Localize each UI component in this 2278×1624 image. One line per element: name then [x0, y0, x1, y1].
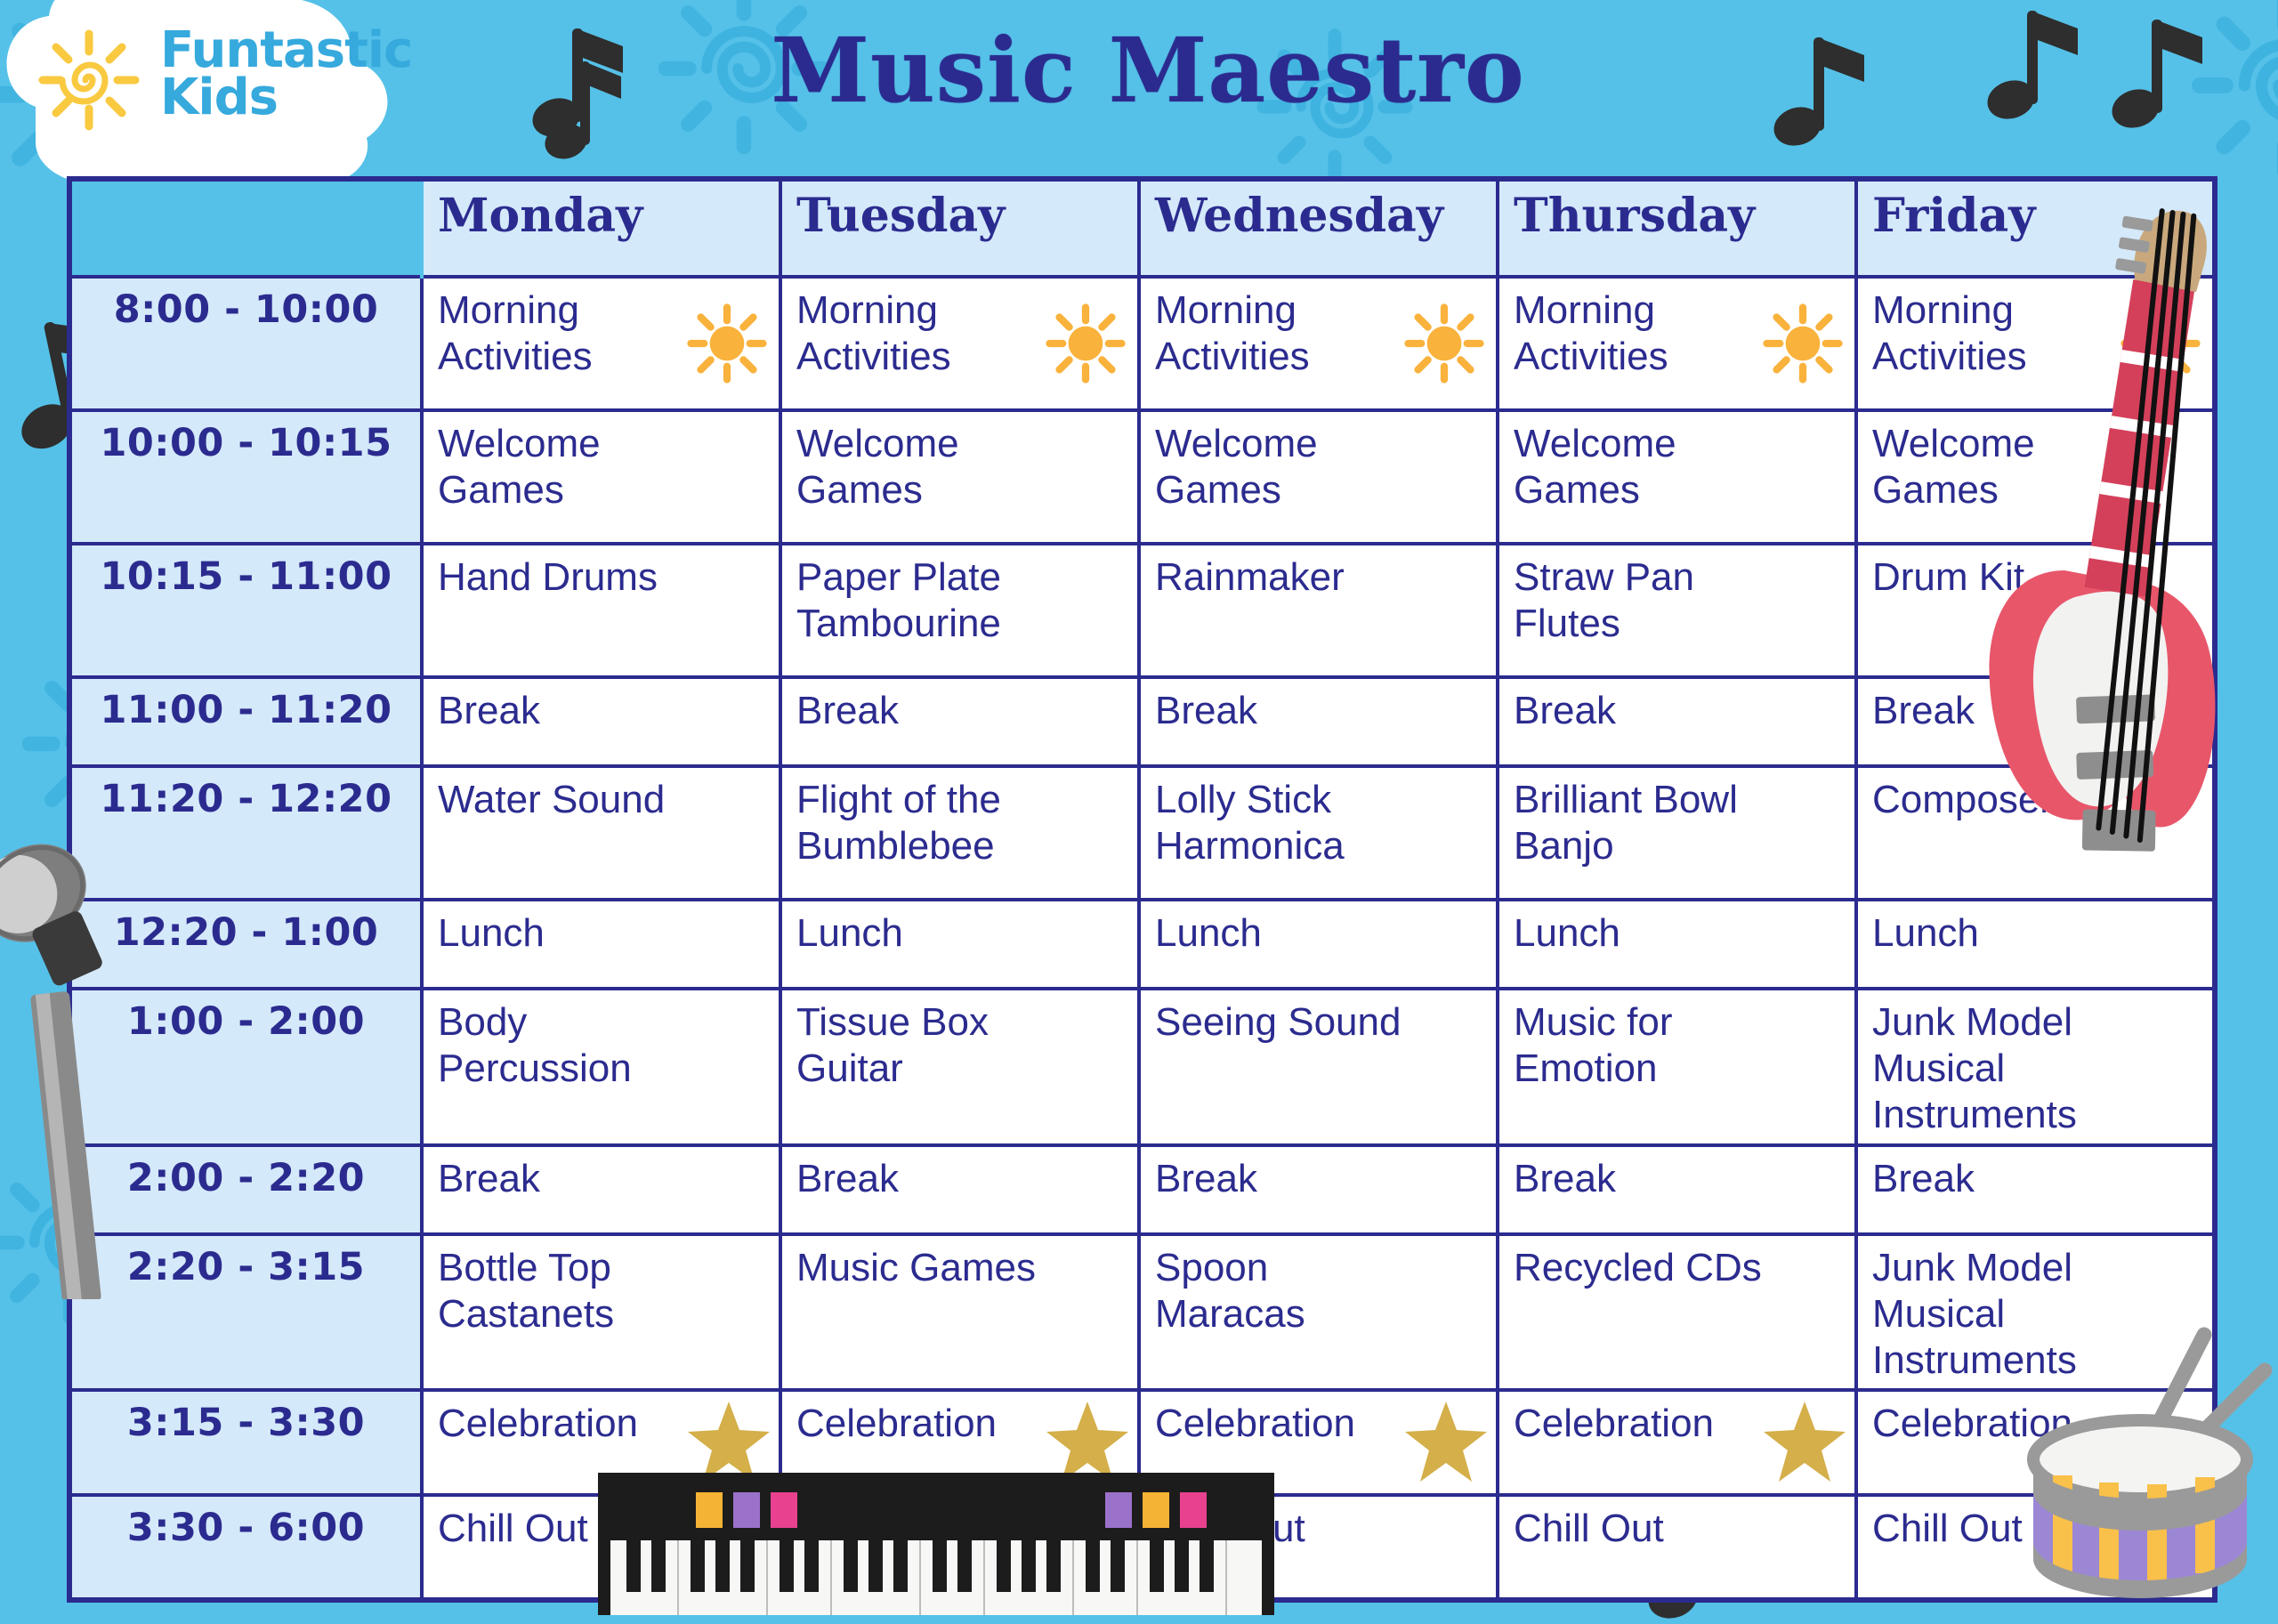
activity-cell: Body Percussion [422, 989, 780, 1145]
brand-logo: Funtastic Kids [0, 0, 418, 205]
activity-cell: Break [1139, 1145, 1498, 1234]
music-note-icon [1771, 27, 1869, 151]
schedule-header-row: Monday Tuesday Wednesday Thursday Friday [69, 179, 2215, 277]
activity-cell: Lunch [1139, 900, 1498, 989]
activity-cell: Spoon Maracas [1139, 1234, 1498, 1391]
activity-cell: Hand Drums [422, 544, 780, 677]
table-row: 10:00 - 10:15 Welcome Games Welcome Game… [69, 410, 2215, 544]
activity-cell: Morning Activities [1498, 277, 1856, 410]
activity-cell: Break [1498, 1145, 1856, 1234]
activity-cell: Chill Out [1498, 1495, 1856, 1600]
day-header-monday: Monday [422, 179, 780, 277]
activity-cell: Tissue Box Guitar [780, 989, 1139, 1145]
activity-cell: Break [1856, 1145, 2215, 1234]
activity-cell: Morning Activities [780, 277, 1139, 410]
time-slot: 3:15 - 3:30 [69, 1390, 422, 1495]
sun-swirl-icon [36, 27, 142, 133]
activity-cell: Break [1139, 677, 1498, 766]
activity-cell: Lunch [422, 900, 780, 989]
activity-cell: Seeing Sound [1139, 989, 1498, 1145]
activity-cell: Straw Pan Flutes [1498, 544, 1856, 677]
microphone-icon [0, 801, 169, 1299]
activity-cell: Lunch [1856, 900, 2215, 989]
activity-cell: Recycled CDs [1498, 1234, 1856, 1391]
table-row: 11:20 - 12:20 Water Sound Flight of the … [69, 766, 2215, 900]
music-note-icon [1984, 0, 2082, 125]
keyboard-piano-icon [598, 1473, 1274, 1615]
activity-cell: Break [780, 677, 1139, 766]
time-slot: 10:15 - 11:00 [69, 544, 422, 677]
table-row: 12:20 - 1:00 Lunch Lunch Lunch Lunch Lun… [69, 900, 2215, 989]
activity-cell: Flight of the Bumblebee [780, 766, 1139, 900]
activity-cell: Bottle Top Castanets [422, 1234, 780, 1391]
activity-cell: Celebration [1498, 1390, 1856, 1495]
activity-cell: Paper Plate Tambourine [780, 544, 1139, 677]
music-note-icon [543, 49, 623, 165]
activity-cell: Welcome Games [422, 410, 780, 544]
table-row: 8:00 - 10:00 Morning Activities Morning … [69, 277, 2215, 410]
page-title: Music Maestro [676, 18, 1620, 123]
activity-cell: Water Sound [422, 766, 780, 900]
table-row: 2:20 - 3:15 Bottle Top Castanets Music G… [69, 1234, 2215, 1391]
activity-cell: Lunch [1498, 900, 1856, 989]
day-header-thursday: Thursday [1498, 179, 1856, 277]
activity-cell: Music for Emotion [1498, 989, 1856, 1145]
activity-cell: Break [780, 1145, 1139, 1234]
time-slot: 11:00 - 11:20 [69, 677, 422, 766]
activity-cell: Morning Activities [422, 277, 780, 410]
activity-cell: Lolly Stick Harmonica [1139, 766, 1498, 900]
activity-cell: Welcome Games [780, 410, 1139, 544]
activity-cell: Welcome Games [1498, 410, 1856, 544]
brand-name: Funtastic Kids [160, 27, 412, 121]
activity-cell: Break [422, 677, 780, 766]
activity-cell: Welcome Games [1139, 410, 1498, 544]
table-row: 10:15 - 11:00 Hand Drums Paper Plate Tam… [69, 544, 2215, 677]
day-header-tuesday: Tuesday [780, 179, 1139, 277]
activity-cell: Morning Activities [1139, 277, 1498, 410]
drum-icon [2007, 1317, 2274, 1611]
activity-cell: Break [1498, 677, 1856, 766]
activity-cell: Break [422, 1145, 780, 1234]
activity-cell: Rainmaker [1139, 544, 1498, 677]
music-note-icon [2109, 9, 2207, 133]
schedule-table: Monday Tuesday Wednesday Thursday Friday… [67, 176, 2217, 1603]
time-slot: 8:00 - 10:00 [69, 277, 422, 410]
time-column-header [69, 179, 422, 277]
activity-cell: Lunch [780, 900, 1139, 989]
brand-name-line1: Funtastic [160, 27, 412, 74]
activity-cell: Junk Model Musical Instruments [1856, 989, 2215, 1145]
activity-cell: Brilliant Bowl Banjo [1498, 766, 1856, 900]
table-row: 11:00 - 11:20 Break Break Break Break Br… [69, 677, 2215, 766]
day-header-wednesday: Wednesday [1139, 179, 1498, 277]
time-slot: 10:00 - 10:15 [69, 410, 422, 544]
electric-guitar-icon [1984, 196, 2251, 899]
brand-name-line2: Kids [160, 74, 412, 121]
table-row: 2:00 - 2:20 Break Break Break Break Brea… [69, 1145, 2215, 1234]
time-slot: 3:30 - 6:00 [69, 1495, 422, 1600]
activity-cell: Music Games [780, 1234, 1139, 1391]
table-row: 1:00 - 2:00 Body Percussion Tissue Box G… [69, 989, 2215, 1145]
